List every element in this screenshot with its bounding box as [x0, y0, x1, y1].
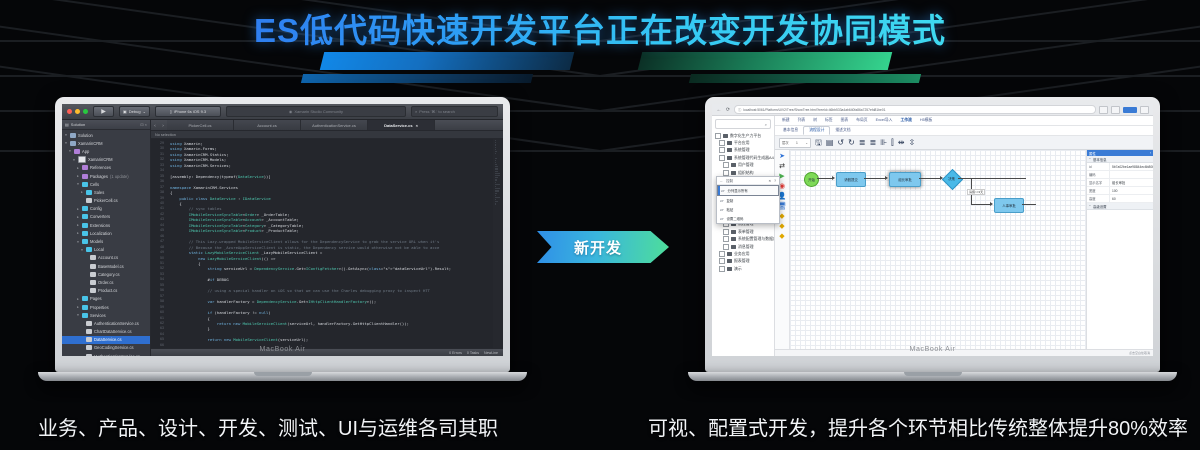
- disclosure-icon[interactable]: ▸: [76, 223, 80, 227]
- menu-tab[interactable]: H5模板: [916, 118, 936, 123]
- flow-node-hr-approval[interactable]: 人事审批: [994, 198, 1024, 213]
- collapse-icon[interactable]: ›: [1150, 151, 1151, 155]
- minimap-line: [495, 179, 497, 180]
- undo-icon[interactable]: ↺: [837, 139, 844, 147]
- minimap-line: [495, 166, 498, 167]
- url-bar[interactable]: ⓘ localhost:5061/Platform/UIV2/Tree/Show…: [734, 105, 1096, 114]
- flow-arrow-icon: [885, 176, 888, 180]
- minimap-line: [495, 144, 496, 145]
- property-key: 编码: [1087, 171, 1110, 178]
- flow-edge-label: 请假>=3天: [967, 189, 985, 195]
- solution-tree-item[interactable]: ▸References: [62, 164, 150, 172]
- editor-tab[interactable]: DataService.cs×: [368, 120, 435, 130]
- module-tree-item-label: 组织结构: [738, 170, 754, 176]
- device-icon: ▯: [170, 109, 172, 114]
- exchange-icon[interactable]: ⇄: [779, 163, 785, 170]
- module-tree-item[interactable]: 业务应用: [714, 250, 774, 257]
- property-value[interactable]: 组长审批: [1110, 179, 1153, 186]
- folder-icon: [727, 156, 732, 160]
- solution-tree-item[interactable]: ▸Extensions: [62, 221, 150, 229]
- folder-icon: [82, 296, 88, 301]
- solution-tree-item-label: XamarinCRM: [78, 141, 103, 146]
- editor-tab-label: DataService.cs: [384, 123, 412, 128]
- solution-tree-item-label: Converters: [90, 214, 110, 219]
- close-icon[interactable]: [67, 109, 72, 114]
- minimap-line: [495, 173, 500, 174]
- close-icon[interactable]: ×: [416, 123, 418, 128]
- context-menu-item[interactable]: ▱分列显示所有: [717, 185, 779, 196]
- editor-tab-label: Account.cs: [257, 123, 277, 128]
- solution-tree[interactable]: ▾Solution▾XamarinCRM▾App▾XamarinCRM▸Refe…: [62, 130, 150, 356]
- distribute-icon[interactable]: ⫿: [891, 139, 894, 147]
- solution-panel: ▤ Solution ⊡ × ▾Solution▾XamarinCRM▾App▾…: [62, 120, 151, 356]
- property-value[interactable]: [1110, 171, 1153, 178]
- solution-tree-item[interactable]: ▾Solution: [62, 131, 150, 139]
- disclosure-icon[interactable]: ▸: [80, 190, 84, 194]
- module-tree-item[interactable]: 数字化生产力平台: [714, 132, 774, 139]
- disclosure-icon[interactable]: ▸: [76, 166, 80, 170]
- solution-tree-item-label: Account.cs: [98, 255, 118, 260]
- checkbox-icon[interactable]: [719, 251, 725, 257]
- solution-tree-item-label: Category.cs: [98, 272, 120, 277]
- file-icon: [86, 321, 92, 326]
- solution-tree-item[interactable]: ▸Pages: [62, 295, 150, 303]
- align-middle-icon[interactable]: ⇳: [908, 139, 915, 147]
- config-icon: ▣: [123, 109, 127, 114]
- property-value[interactable]: 60: [1110, 195, 1153, 202]
- solution-tree-item-label: References: [90, 165, 111, 170]
- menu-tab[interactable]: 标签: [821, 118, 837, 123]
- info-icon: ⓘ: [738, 107, 741, 112]
- align-center-icon[interactable]: ⇹: [898, 139, 905, 147]
- zoom-label: 层次: [782, 140, 789, 145]
- columns-icon: ▱: [721, 188, 724, 194]
- minimap-line: [495, 151, 497, 152]
- minimap[interactable]: [493, 139, 503, 348]
- solution-tree-item[interactable]: Category.cs: [62, 270, 150, 278]
- properties-section-header[interactable]: −基本信息: [1087, 156, 1153, 163]
- module-tree-item[interactable]: 表单管理: [714, 228, 774, 235]
- editor-tabbar: ‹ › PickerCell.csAccount.csAuthenticatio…: [151, 120, 503, 131]
- solution-tree-item[interactable]: ▾Cells: [62, 180, 150, 188]
- folder-icon: [723, 134, 728, 138]
- solution-tree-item-label: Order.cs: [98, 280, 113, 285]
- right-laptop-screen: ← ⟳ ⓘ localhost:5061/Platform/UIV2/Tree/…: [712, 104, 1153, 356]
- menu-tab[interactable]: 布局页: [852, 118, 871, 123]
- solution-tree-item[interactable]: ▾XamarinCRM: [62, 139, 150, 147]
- disclosure-icon[interactable]: ▸: [76, 231, 80, 235]
- context-menu-item[interactable]: ▱复制: [717, 196, 779, 205]
- gateway-icon[interactable]: ◆: [779, 213, 784, 220]
- file-icon: [90, 264, 96, 269]
- solution-tree-item[interactable]: BaseModel.cs: [62, 262, 150, 270]
- menu-tabs: 新建列表树标签图表布局页Excel导入工作流H5模板: [775, 116, 1153, 126]
- solution-tree-item[interactable]: ▸Config: [62, 205, 150, 213]
- help-icon[interactable]: ?: [774, 179, 776, 183]
- caption-left: 业务、产品、设计、开发、测试、UI与运维各司其职: [38, 412, 498, 441]
- extension-icon[interactable]: [1099, 106, 1108, 114]
- checkbox-icon[interactable]: [719, 266, 725, 272]
- tab-prev-icon[interactable]: ‹: [151, 123, 159, 130]
- source-code[interactable]: using Xamarin;using Xamarin.Forms;using …: [166, 139, 503, 348]
- disclosure-icon[interactable]: ▸: [76, 174, 80, 178]
- module-tree-item[interactable]: 系统配置管理与数据库连接: [714, 235, 774, 242]
- solution-tree-item[interactable]: ▸Converters: [62, 213, 150, 221]
- chevron-down-icon: ⌄: [805, 141, 808, 145]
- context-menu-item[interactable]: ▱粘贴: [717, 205, 779, 214]
- property-row: 显示名字组长审批: [1087, 179, 1153, 187]
- solution-tree-item[interactable]: Account.cs: [62, 254, 150, 262]
- solution-tree-item-label: App: [82, 149, 89, 154]
- folder-icon: [731, 163, 736, 167]
- solution-tree-item-label: Product.cs: [98, 288, 117, 293]
- disclosure-icon[interactable]: ▸: [76, 297, 80, 301]
- property-value[interactable]: 100: [1110, 187, 1153, 194]
- solution-tree-item[interactable]: ChartDataService.cs: [62, 328, 150, 336]
- solution-tree-item[interactable]: Product.cs: [62, 287, 150, 295]
- properties-title: 属性: [1089, 151, 1096, 156]
- info-icon: ◉: [289, 109, 293, 114]
- chrome-right-controls[interactable]: [1099, 106, 1149, 114]
- sub-tab[interactable]: 基本信息: [778, 127, 803, 134]
- search-icon: ⌕: [415, 109, 417, 114]
- menu-icon[interactable]: [1140, 106, 1149, 114]
- solution-icon: [70, 133, 76, 138]
- folder-icon: [82, 223, 88, 228]
- checkbox-icon[interactable]: [719, 147, 725, 153]
- folder-purple-icon: [82, 165, 88, 170]
- solution-tree-item[interactable]: AuthenticationService.cs: [62, 319, 150, 327]
- folder-icon: [82, 206, 88, 211]
- align-right-icon[interactable]: ≣: [870, 139, 877, 147]
- disclosure-icon[interactable]: ▾: [80, 248, 84, 252]
- minimap-line: [495, 203, 496, 204]
- gateway2-icon[interactable]: ◆: [779, 223, 784, 230]
- flow-node-start[interactable]: 开始: [804, 172, 819, 187]
- left-laptop: ▶ ▣ Debug ⌄ ▯ iPhone 6s iOS 9.3 ◉ Xam: [55, 97, 510, 381]
- window-controls[interactable]: [67, 109, 88, 114]
- chevron-down-icon: ⌄: [143, 109, 146, 114]
- breadcrumb: No selection: [151, 131, 503, 139]
- gateway3-icon[interactable]: ◆: [779, 233, 784, 240]
- disclosure-icon[interactable]: ▾: [76, 313, 80, 317]
- menu-tab[interactable]: 树: [809, 118, 821, 123]
- editor-tab[interactable]: AuthenticationService.cs: [301, 120, 368, 130]
- minimap-line: [495, 182, 496, 183]
- minimap-line: [495, 195, 496, 196]
- module-tree-item-label: 业务应用: [734, 251, 750, 257]
- minimap-line: [495, 147, 496, 148]
- sub-tab[interactable]: 流程设计: [803, 126, 830, 135]
- reload-icon[interactable]: ⟳: [725, 107, 731, 113]
- solution-tree-item[interactable]: Order.cs: [62, 278, 150, 286]
- folder-icon: [82, 305, 88, 310]
- context-menu-items[interactable]: ▱分列显示所有▱复制▱粘贴▱设置二维码: [717, 185, 779, 223]
- browser-chrome: ← ⟳ ⓘ localhost:5061/Platform/UIV2/Tree/…: [712, 104, 1153, 116]
- folder-icon: [731, 171, 736, 175]
- tree-search-input[interactable]: ⌕: [715, 119, 771, 129]
- flow-edge: [1022, 204, 1036, 205]
- minimap-line: [495, 140, 496, 141]
- folder-icon: [82, 231, 88, 236]
- deco-bar-blue-bottom: [301, 74, 533, 83]
- folder-icon: [731, 245, 736, 249]
- solution-tree-item[interactable]: ▾Models: [62, 237, 150, 245]
- minimap-line: [495, 186, 496, 187]
- xamarin-studio-window: ▶ ▣ Debug ⌄ ▯ iPhone 6s iOS 9.3 ◉ Xam: [62, 104, 503, 356]
- checkbox-icon[interactable]: [723, 170, 729, 176]
- deco-bar-green-top: [638, 52, 892, 70]
- left-laptop-lid: ▶ ▣ Debug ⌄ ▯ iPhone 6s iOS 9.3 ◉ Xam: [55, 97, 510, 372]
- caption-right: 可视、配置式开发，提升各个环节相比传统整体提升80%效率: [648, 412, 1188, 441]
- module-tree-item[interactable]: 系统管理: [714, 147, 774, 154]
- solution-tree-item[interactable]: ▾XamarinCRM: [62, 156, 150, 164]
- back-arrow-icon[interactable]: ←: [716, 107, 722, 113]
- align-left-icon[interactable]: ≣: [859, 139, 866, 147]
- properties-section-title: 高级设置: [1093, 204, 1107, 209]
- start-icon[interactable]: ▶: [779, 173, 784, 180]
- property-key: 高度: [1087, 195, 1110, 202]
- file-icon: [90, 272, 96, 277]
- solution-tree-item-label: ChartDataService.cs: [94, 329, 132, 334]
- bookmark-icon[interactable]: [1111, 106, 1120, 114]
- menu-tab[interactable]: 图表: [837, 118, 853, 123]
- folder-icon: [86, 247, 92, 252]
- poster-stage: ES低代码快速开发平台正在改变开发协同模式 ▶ ▣: [0, 0, 1200, 450]
- flow-node-label: 组长审批: [898, 177, 912, 182]
- left-laptop-screen: ▶ ▣ Debug ⌄ ▯ iPhone 6s iOS 9.3 ◉ Xam: [62, 104, 503, 356]
- checkbox-icon[interactable]: [719, 155, 725, 161]
- play-icon: ▶: [101, 108, 106, 115]
- flow-node-submit[interactable]: 请假提交: [836, 172, 866, 187]
- folder-purple-icon: [74, 149, 80, 154]
- align-top-icon[interactable]: ⊪: [880, 139, 887, 147]
- maximize-icon[interactable]: [83, 109, 88, 114]
- context-menu-title: 控制: [726, 178, 733, 183]
- editor-tabs: PickerCell.csAccount.csAuthenticationSer…: [167, 120, 435, 130]
- disclosure-icon[interactable]: ▾: [64, 141, 68, 145]
- panel-pin-icon[interactable]: ⊡ ×: [140, 122, 147, 127]
- checkbox-icon[interactable]: [723, 229, 729, 235]
- property-row: 编码: [1087, 171, 1153, 179]
- solution-tree-item-label: Local: [94, 247, 104, 252]
- sub-tabs: 基本信息流程设计描述文档: [775, 126, 1153, 136]
- disclosure-icon[interactable]: ▾: [72, 158, 76, 162]
- minimap-line: [495, 171, 498, 172]
- account-button[interactable]: [1123, 107, 1137, 113]
- module-tree-item[interactable]: 报表管理: [714, 258, 774, 265]
- folder-icon: [727, 252, 732, 256]
- minimap-line: [495, 184, 500, 185]
- menu-tab[interactable]: 列表: [794, 118, 810, 123]
- run-button[interactable]: ▶: [93, 106, 114, 117]
- editor-tab[interactable]: Account.cs: [234, 120, 301, 130]
- minimize-icon[interactable]: [75, 109, 80, 114]
- folder-purple-icon: [82, 174, 88, 179]
- property-value[interactable]: 5b7a02be1ae98844ec6b8064c0152cee: [1110, 163, 1153, 170]
- flow-edge: [971, 204, 991, 205]
- solution-tree-item[interactable]: ▾Local: [62, 246, 150, 254]
- xs-body: ▤ Solution ⊡ × ▾Solution▾XamarinCRM▾App▾…: [62, 120, 503, 356]
- disclosure-icon[interactable]: ▸: [76, 215, 80, 219]
- left-laptop-base: [38, 372, 527, 381]
- minimap-line: [495, 142, 496, 143]
- minimap-line: [495, 197, 500, 198]
- zoom-value: 1: [796, 141, 798, 145]
- line-number-gutter: 2930313233343536373839404142434445464748…: [151, 139, 166, 348]
- sub-tab[interactable]: 描述文档: [830, 127, 855, 134]
- disclosure-icon[interactable]: ▾: [68, 149, 72, 153]
- context-menu[interactable]: ← 控制 ✕ ? ▱分列显示所有▱复制▱粘贴▱设置二维码: [716, 176, 780, 224]
- device-label: iPhone 6s iOS 9.3: [174, 109, 206, 114]
- properties-section-header[interactable]: −高级设置: [1087, 203, 1153, 210]
- solution-tree-item[interactable]: ▸Sales: [62, 188, 150, 196]
- solution-tree-item-label: Pages: [90, 296, 102, 301]
- disclosure-icon[interactable]: ▾: [64, 133, 68, 137]
- context-menu-item[interactable]: ▱设置二维码: [717, 214, 779, 223]
- disclosure-icon[interactable]: ▾: [76, 240, 80, 244]
- file-icon: [86, 354, 92, 356]
- solution-tree-item[interactable]: ▸Packages(1 update): [62, 172, 150, 180]
- disclosure-icon[interactable]: ▸: [76, 305, 80, 309]
- minimap-line: [495, 201, 498, 202]
- properties-content: −基本信息id5b7a02be1ae98844ec6b8064c0152cee编…: [1087, 156, 1153, 210]
- solution-panel-title: Solution: [71, 122, 85, 127]
- solution-tree-item-label: Services: [90, 313, 106, 318]
- module-tree-item-label: 演示: [734, 266, 742, 272]
- solution-tree-item[interactable]: ▸Properties: [62, 303, 150, 311]
- module-tree-item-label: 系统配置管理与数据库连接: [738, 236, 774, 242]
- file-icon: [86, 198, 92, 203]
- save-icon[interactable]: 🖫: [815, 139, 822, 147]
- module-tree[interactable]: 数字化生产力平台平台应用系统管理系统管理代码生成器A44用户管理组织结构部件管理…: [712, 132, 774, 356]
- app-body: ⌕ 数字化生产力平台平台应用系统管理系统管理代码生成器A44用户管理组织结构部件…: [712, 116, 1153, 356]
- collapse-icon[interactable]: −: [1089, 157, 1091, 161]
- designer-main: 新建列表树标签图表布局页Excel导入工作流H5模板 基本信息流程设计描述文档 …: [775, 116, 1153, 356]
- property-row: 高度60: [1087, 195, 1153, 203]
- folder-icon: [82, 239, 88, 244]
- right-laptop: ← ⟳ ⓘ localhost:5061/Platform/UIV2/Tree/…: [705, 97, 1160, 381]
- flow-node-label: 请假提交: [844, 177, 858, 182]
- module-tree-item[interactable]: 平台应用: [714, 139, 774, 146]
- cursor-icon[interactable]: ➤: [779, 153, 785, 160]
- close-icon[interactable]: ✕: [768, 179, 771, 183]
- context-menu-item-label: 分列显示所有: [727, 188, 747, 193]
- menu-tab[interactable]: Excel导入: [872, 118, 897, 123]
- solution-tree-item-label: Extensions: [90, 223, 110, 228]
- checkbox-icon[interactable]: [719, 140, 725, 146]
- file-icon: [90, 255, 96, 260]
- checkbox-icon[interactable]: [723, 162, 729, 168]
- deco-bar-blue-top: [320, 52, 574, 70]
- checkbox-icon[interactable]: [723, 244, 729, 250]
- editor-tab[interactable]: PickerCell.cs: [167, 120, 234, 130]
- search-input[interactable]: ⌕ Press '⌘.' to search: [411, 106, 498, 117]
- xs-toolbar: ▶ ▣ Debug ⌄ ▯ iPhone 6s iOS 9.3 ◉ Xam: [62, 104, 503, 120]
- flow-canvas[interactable]: 开始 请假提交: [790, 150, 1086, 349]
- url-text: localhost:5061/Platform/UIV2/Tree/ShowTr…: [743, 108, 885, 112]
- editor-tab-label: PickerCell.cs: [188, 123, 211, 128]
- checkbox-icon[interactable]: [719, 258, 725, 264]
- solution-tree-item-label: Sales: [94, 190, 104, 195]
- solution-icon: ▤: [65, 122, 69, 127]
- disclosure-icon[interactable]: ▸: [76, 207, 80, 211]
- right-laptop-brand: MacBook Air: [712, 346, 1153, 353]
- image-icon[interactable]: ▤: [826, 139, 834, 147]
- minimap-line: [495, 168, 498, 169]
- flow-node-gateway-label: 决策: [945, 172, 958, 185]
- folder-icon: [731, 230, 736, 234]
- flow-node-lead-approval[interactable]: 组长审批: [889, 172, 921, 187]
- collapse-icon[interactable]: −: [1089, 204, 1091, 208]
- configuration-selector[interactable]: ▣ Debug ⌄: [119, 106, 150, 117]
- paste-icon: ▱: [720, 207, 723, 213]
- solution-tree-item[interactable]: DataService.cs: [62, 336, 150, 344]
- solution-tree-item[interactable]: PickerCell.cs: [62, 197, 150, 205]
- context-menu-header: ← 控制 ✕ ?: [717, 177, 779, 185]
- solution-tree-item-label: DataService.cs: [94, 337, 122, 342]
- minimap-line: [495, 162, 496, 163]
- module-tree-item-label: 系统管理代码生成器A44: [734, 155, 774, 161]
- property-key: id: [1087, 163, 1110, 170]
- solution-tree-item[interactable]: ▾App: [62, 147, 150, 155]
- zoom-select[interactable]: 层次 1 ⌄: [779, 138, 811, 148]
- folder-icon: [86, 190, 92, 195]
- redo-icon[interactable]: ↻: [848, 139, 855, 147]
- module-tree-item[interactable]: 用户管理: [714, 162, 774, 169]
- configuration-label: Debug: [129, 109, 141, 114]
- minimap-line: [495, 149, 496, 150]
- property-key: 显示名字: [1087, 179, 1110, 186]
- file-icon: [90, 280, 96, 285]
- deco-bar-green-bottom: [689, 74, 921, 83]
- disclosure-icon[interactable]: ▾: [76, 182, 80, 186]
- code-editor[interactable]: 2930313233343536373839404142434445464748…: [151, 139, 503, 348]
- solution-tree-item-label: Localization: [90, 231, 112, 236]
- project-icon: [78, 156, 86, 163]
- folder-icon: [727, 141, 732, 145]
- search-icon: ⌕: [765, 122, 767, 127]
- tab-next-icon[interactable]: ›: [159, 123, 167, 130]
- context-menu-item-label: 设置二维码: [726, 216, 743, 221]
- module-tree-item[interactable]: 系统管理代码生成器A44: [714, 154, 774, 161]
- flow-node-label: 人事审批: [1002, 203, 1016, 208]
- back-arrow-icon[interactable]: ←: [720, 179, 723, 183]
- module-tree-item[interactable]: 消息管理: [714, 243, 774, 250]
- checkbox-icon[interactable]: [723, 236, 729, 242]
- folder-icon: [727, 148, 732, 152]
- menu-tab[interactable]: 新建: [778, 118, 794, 123]
- minimap-line: [495, 190, 499, 191]
- checkbox-icon[interactable]: [715, 133, 721, 139]
- right-laptop-lid: ← ⟳ ⓘ localhost:5061/Platform/UIV2/Tree/…: [705, 97, 1160, 372]
- solution-tree-item-suffix: (1 update): [110, 174, 129, 179]
- module-tree-item[interactable]: 演示: [714, 265, 774, 272]
- menu-tab[interactable]: 工作流: [896, 118, 915, 123]
- folder-icon: [727, 267, 732, 271]
- solution-tree-item[interactable]: ▾Services: [62, 311, 150, 319]
- solution-tree-item-label: AuthenticationService.cs: [94, 321, 139, 326]
- device-selector[interactable]: ▯ iPhone 6s iOS 9.3: [155, 106, 221, 117]
- status-field: ◉ Xamarin Studio Community: [226, 106, 406, 117]
- flow-node-label: 开始: [808, 177, 815, 182]
- solution-tree-item-label: Config: [90, 206, 102, 211]
- module-tree-item-label: 数字化生产力平台: [730, 133, 761, 139]
- file-icon: [86, 337, 92, 342]
- solution-tree-item[interactable]: ▸Localization: [62, 229, 150, 237]
- solution-tree-item-label: Models: [90, 239, 103, 244]
- minimap-line: [495, 164, 497, 165]
